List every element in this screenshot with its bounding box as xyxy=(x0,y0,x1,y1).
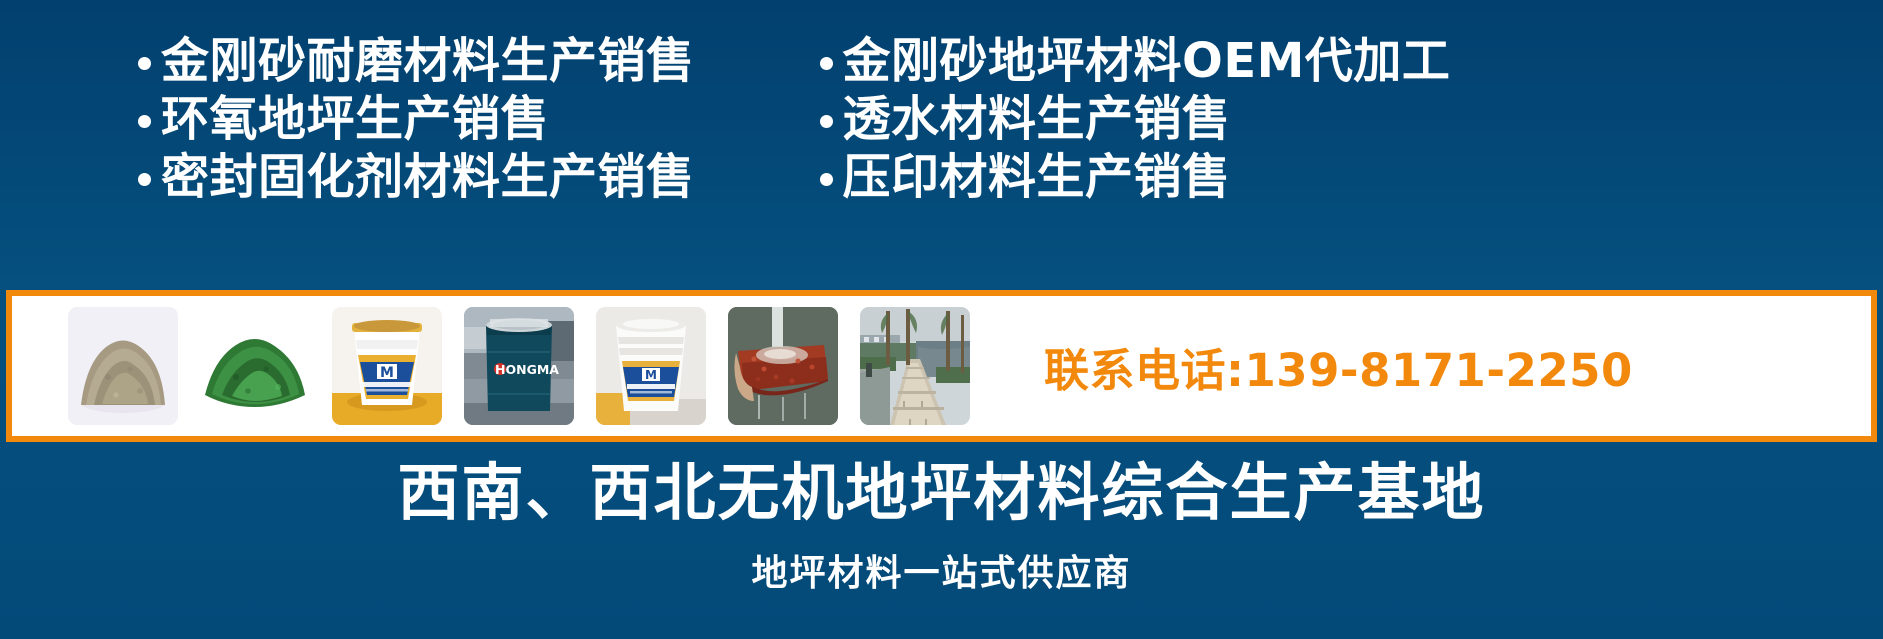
bullet-dot-icon xyxy=(820,57,833,70)
bullet-dot-icon xyxy=(138,173,151,186)
service-label: 金刚砂耐磨材料生产销售 xyxy=(161,37,695,85)
services-section: 金刚砂耐磨材料生产销售 环氧地坪生产销售 密封固化剂材料生产销售 金刚砂地坪材料… xyxy=(0,32,1883,232)
svg-text:HONGMA: HONGMA xyxy=(495,362,559,377)
services-left-column: 金刚砂耐磨材料生产销售 环氧地坪生产销售 密封固化剂材料生产销售 xyxy=(138,32,695,206)
bullet-dot-icon xyxy=(820,115,833,128)
svg-text:M: M xyxy=(380,365,394,381)
svg-text:M: M xyxy=(645,368,657,382)
product-thumbnail-strip: M xyxy=(68,307,970,425)
service-label: 透水材料生产销售 xyxy=(843,95,1231,143)
product-thumb-permeable-concrete-slab[interactable] xyxy=(728,307,838,425)
service-item: 密封固化剂材料生产销售 xyxy=(138,148,695,206)
service-label: 金刚砂地坪材料OEM代加工 xyxy=(843,37,1451,85)
service-item: 透水材料生产销售 xyxy=(820,90,1451,148)
product-thumb-epoxy-floor-coating-bucket[interactable]: M xyxy=(596,307,706,425)
bullet-dot-icon xyxy=(820,173,833,186)
product-showcase-panel: M xyxy=(6,290,1877,442)
service-label: 密封固化剂材料生产销售 xyxy=(161,153,695,201)
product-thumb-hongma-steel-drum[interactable]: HONGMA xyxy=(464,307,574,425)
bullet-dot-icon xyxy=(138,115,151,128)
product-thumb-stamped-concrete-walkway[interactable] xyxy=(860,307,970,425)
services-right-column: 金刚砂地坪材料OEM代加工 透水材料生产销售 压印材料生产销售 xyxy=(820,32,1451,206)
service-item: 金刚砂地坪材料OEM代加工 xyxy=(820,32,1451,90)
service-label: 压印材料生产销售 xyxy=(843,153,1231,201)
product-thumb-green-abrasive-powder[interactable] xyxy=(200,307,310,425)
footer-headline: 西南、西北无机地坪材料综合生产基地 xyxy=(0,462,1883,524)
service-item: 金刚砂耐磨材料生产销售 xyxy=(138,32,695,90)
service-label: 环氧地坪生产销售 xyxy=(161,95,549,143)
service-item: 压印材料生产销售 xyxy=(820,148,1451,206)
footer-subheadline: 地坪材料一站式供应商 xyxy=(0,556,1883,592)
product-thumb-gray-abrasive-powder[interactable] xyxy=(68,307,178,425)
contact-phone[interactable]: 联系电话:139-8171-2250 xyxy=(1044,334,1633,399)
service-item: 环氧地坪生产销售 xyxy=(138,90,695,148)
bullet-dot-icon xyxy=(138,57,151,70)
product-thumb-sealer-curing-agent-bucket[interactable]: M xyxy=(332,307,442,425)
promotional-banner: 金刚砂耐磨材料生产销售 环氧地坪生产销售 密封固化剂材料生产销售 金刚砂地坪材料… xyxy=(0,0,1883,639)
